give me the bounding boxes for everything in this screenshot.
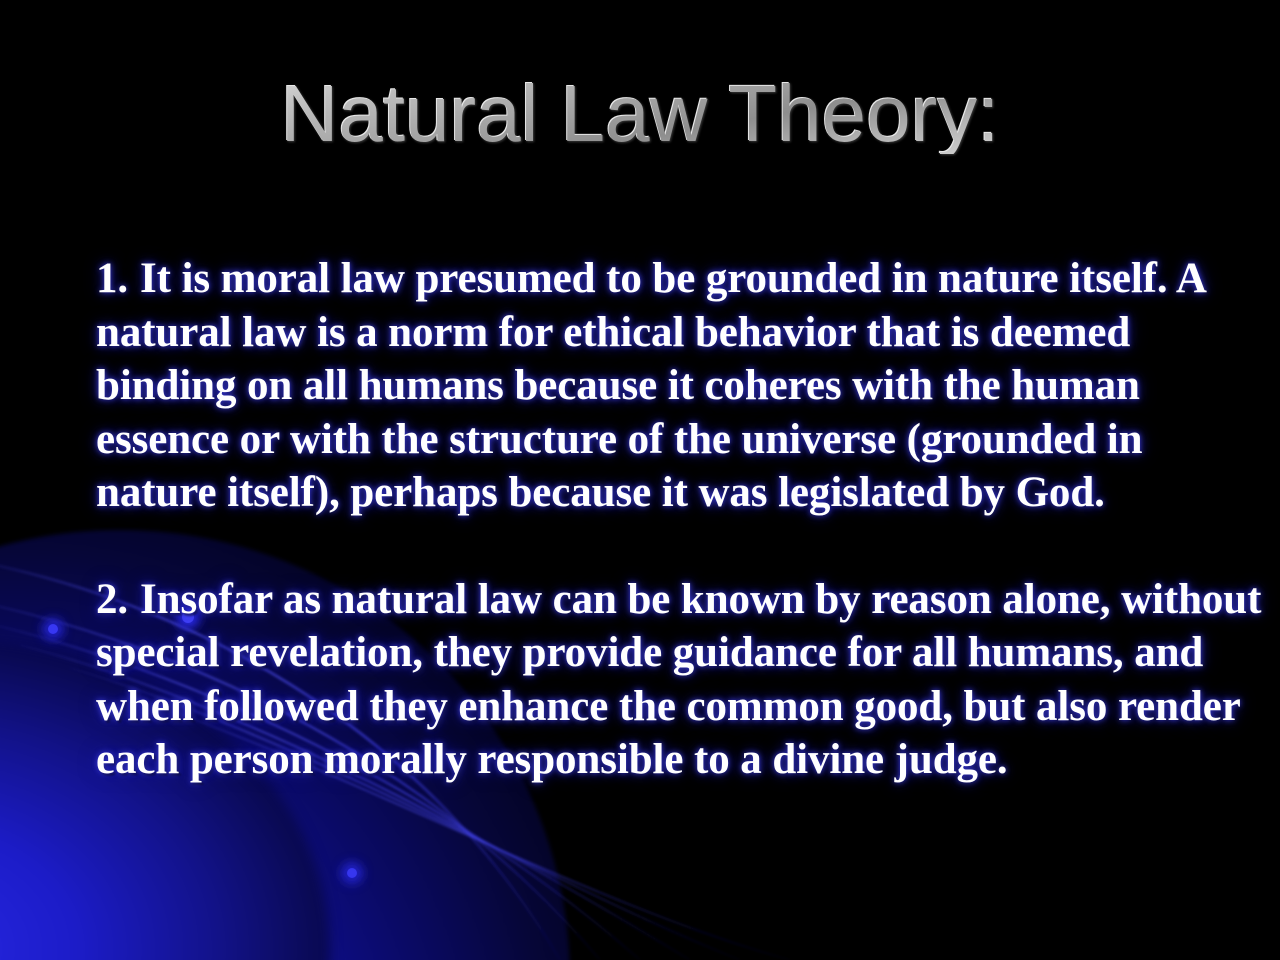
list-item-text: Insofar as natural law can be known by r…: [96, 576, 1261, 784]
glow-dot-icon: [42, 618, 64, 640]
list-item-number: 2.: [96, 573, 140, 627]
glow-dot-core-icon: [48, 624, 58, 634]
list-item: 1.It is moral law presumed to be grounde…: [96, 252, 1272, 520]
list-item-number: 1.: [96, 252, 140, 306]
slide-body-container: 1.It is moral law presumed to be grounde…: [96, 252, 1272, 787]
list-item: 2.Insofar as natural law can be known by…: [96, 573, 1272, 787]
glow-dot-icon: [341, 862, 363, 884]
page-title: Natural Law Theory:: [281, 74, 1000, 154]
slide-title-container: Natural Law Theory:: [0, 74, 1280, 154]
presentation-slide: Natural Law Theory: 1.It is moral law pr…: [0, 0, 1280, 960]
glow-dot-core-icon: [347, 868, 357, 878]
list-item-text: It is moral law presumed to be grounded …: [96, 255, 1204, 516]
